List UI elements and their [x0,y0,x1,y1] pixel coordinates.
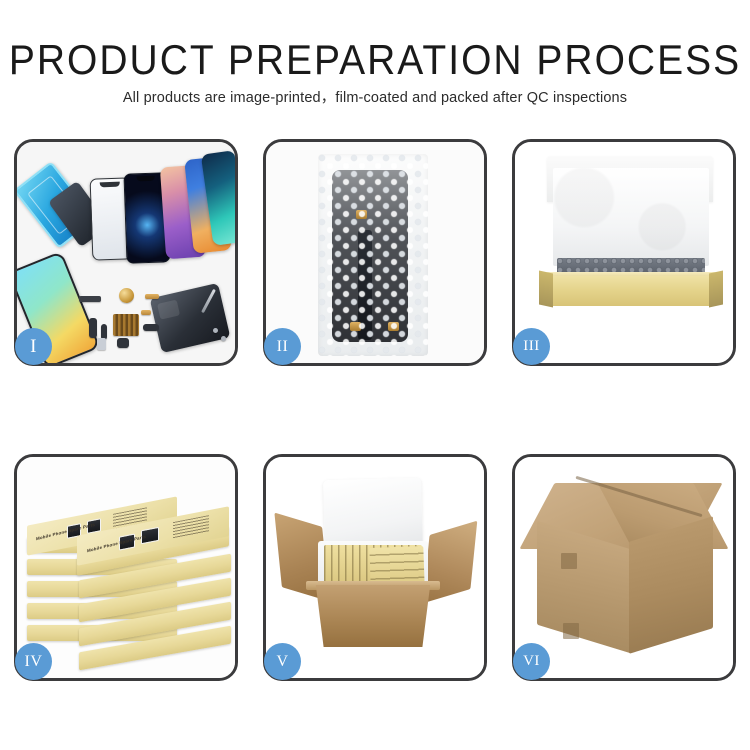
sim-tray-part [97,338,106,350]
component-board-part [113,314,139,336]
button-part [117,338,129,348]
screw-part-2 [221,336,226,341]
kraft-tray [545,276,717,306]
step-panel-3: III [512,139,736,366]
flex-cable-part-1 [89,318,97,338]
process-step-grid: I II [14,139,736,694]
carton-tape-top [561,553,577,569]
step-panel-5: V [263,454,487,681]
step-badge-2: II [264,328,301,365]
step-panel-2: II [263,139,487,366]
step-panel-4: Mobile Phone Spare Parts Mobile Phone Sp… [14,454,238,681]
step-badge-6: VI [513,643,550,680]
carton-flap-right [423,521,478,604]
foam-sheet [553,168,709,266]
step-badge-1: I [15,328,52,365]
speaker-part [79,296,101,302]
connector-part-2 [141,310,151,315]
phone-disassembled-housing [150,283,231,353]
box-label-b: Mobile Phone Spare Parts [87,534,146,553]
step-image-6 [515,457,733,678]
step-badge-3: III [513,328,550,365]
bubble-wrap-bag [318,154,428,356]
bubble-sheen [318,154,428,356]
step-image-4: Mobile Phone Spare Parts Mobile Phone Sp… [17,457,235,678]
product-preparation-infographic: PRODUCT PREPARATION PROCESS All products… [0,0,750,750]
step-image-5 [266,457,484,678]
carton-front-face [308,585,438,647]
step-badge-4: IV [15,643,52,680]
carton-tape-bottom [563,623,579,639]
step-panel-6: VI [512,454,736,681]
step-panel-1: I [14,139,238,366]
step-image-3 [515,142,733,363]
step-image-2 [266,142,484,363]
carton-right-face [629,516,713,654]
flex-cable-part-3 [143,324,159,331]
camera-lens-part [119,288,134,303]
step-image-1 [17,142,235,363]
step-badge-5: V [264,643,301,680]
box-text-block-b [173,515,209,539]
kraft-box-stack: Mobile Phone Spare Parts Mobile Phone Sp… [23,477,235,667]
page-subtitle: All products are image-printed，film-coat… [0,88,750,108]
connector-part-1 [145,294,159,299]
page-title: PRODUCT PREPARATION PROCESS [0,38,750,85]
screw-part-1 [213,328,218,333]
